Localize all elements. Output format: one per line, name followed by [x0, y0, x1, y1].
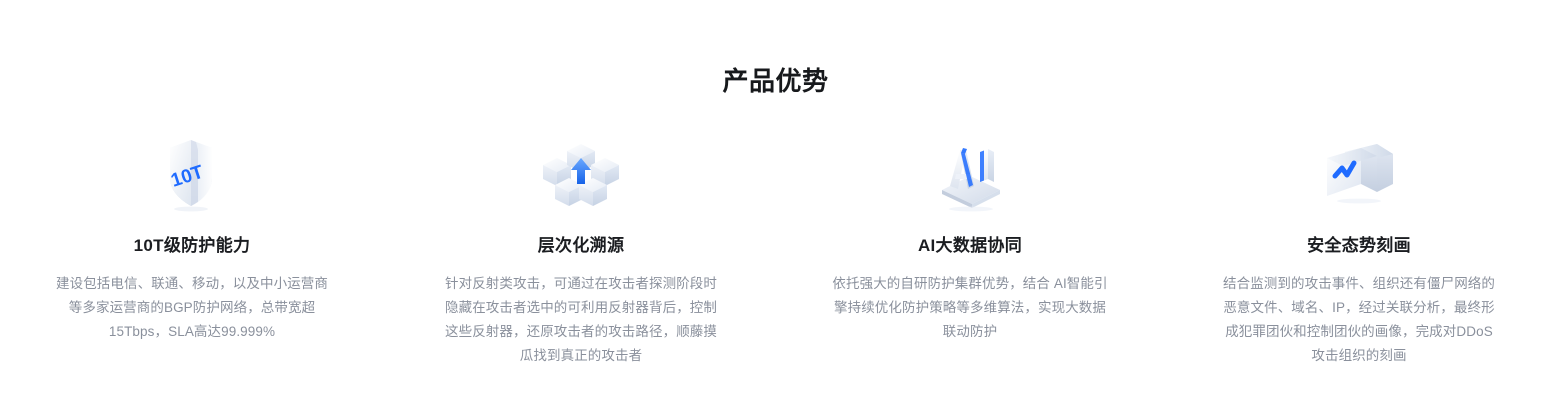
advantage-card-description: 建设包括电信、联通、移动，以及中小运营商等多家运营商的BGP防护网络，总带宽超1…	[54, 272, 330, 344]
security-chart-card-icon	[1311, 132, 1407, 216]
shield-10t-icon: 10T	[144, 132, 240, 216]
advantage-card-title: 安全态势刻画	[1307, 234, 1411, 258]
advantage-card-description: 结合监测到的攻击事件、组织还有僵尸网络的恶意文件、域名、IP，经过关联分析，最终…	[1221, 272, 1497, 368]
page-title: 产品优势	[0, 0, 1551, 98]
advantage-card-title: 10T级防护能力	[134, 234, 251, 258]
advantage-card-posture: 安全态势刻画 结合监测到的攻击事件、组织还有僵尸网络的恶意文件、域名、IP，经过…	[1209, 132, 1509, 368]
product-advantages-section: 产品优势	[0, 0, 1551, 420]
cube-cluster-icon	[533, 132, 629, 216]
advantage-card-tracing: 层次化溯源 针对反射类攻击，可通过在攻击者探测阶段时隐藏在攻击者选中的可利用反射…	[431, 132, 731, 368]
advantage-card-description: 针对反射类攻击，可通过在攻击者探测阶段时隐藏在攻击者选中的可利用反射器背后，控制…	[443, 272, 719, 368]
advantage-card-description: 依托强大的自研防护集群优势，结合 AI智能引擎持续优化防护策略等多维算法，实现大…	[832, 272, 1108, 344]
advantage-card-title: 层次化溯源	[538, 234, 625, 258]
advantage-card-title: AI大数据协同	[918, 234, 1022, 258]
ai-blocks-icon	[922, 132, 1018, 216]
advantage-card-ai: AI大数据协同 依托强大的自研防护集群优势，结合 AI智能引擎持续优化防护策略等…	[820, 132, 1120, 344]
advantage-card-10t: 10T 10T级防护能力 建设包括电信、联通、移动，以及中小运营商等多家运营商的…	[42, 132, 342, 344]
advantage-card-list: 10T 10T级防护能力 建设包括电信、联通、移动，以及中小运营商等多家运营商的…	[0, 132, 1551, 368]
